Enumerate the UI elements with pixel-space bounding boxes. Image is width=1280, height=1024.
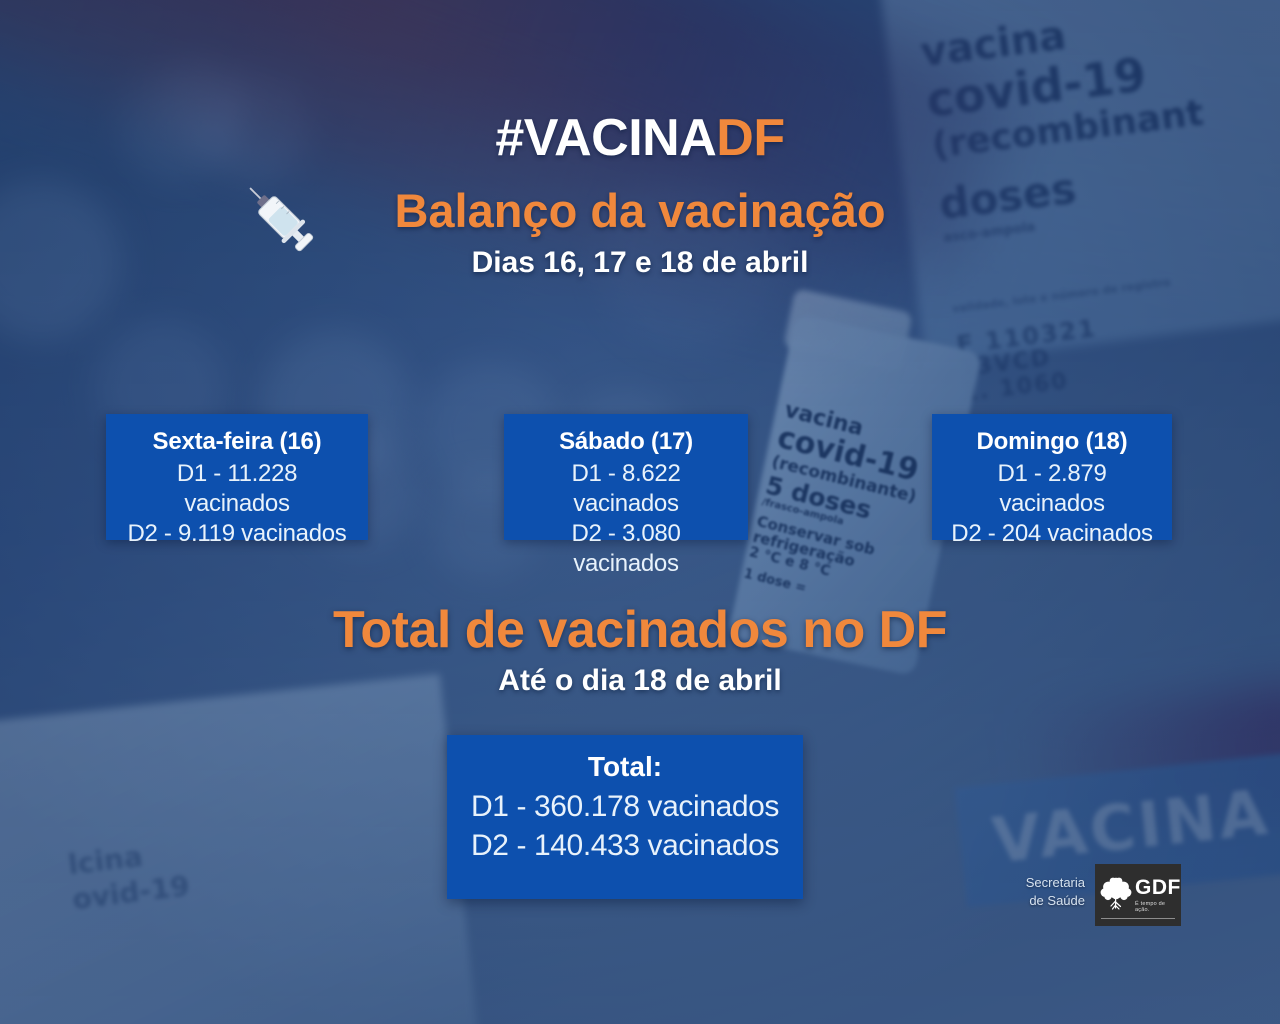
day-card-title: Sábado (17) <box>520 428 732 456</box>
tree-icon <box>1099 875 1133 915</box>
day-card-title: Sexta-feira (16) <box>122 428 352 456</box>
gdf-wordmark: GDF <box>1135 876 1181 899</box>
day-card-title: Domingo (18) <box>948 428 1156 456</box>
day-card-dose2: D2 - 3.080 vacinados <box>520 519 732 579</box>
page-dates: Dias 16, 17 e 18 de abril <box>0 246 1280 280</box>
day-card-friday: Sexta-feira (16) D1 - 11.228 vacinados D… <box>106 414 368 540</box>
secretaria-line2: de Saúde <box>985 892 1085 910</box>
page-title: #VACINADF <box>0 108 1280 168</box>
total-subheading: Até o dia 18 de abril <box>0 664 1280 698</box>
day-card-dose1: D1 - 2.879 vacinados <box>948 459 1156 519</box>
secretaria-line1: Secretaria <box>985 874 1085 892</box>
hashtag-vacina: #VACINA <box>495 109 716 167</box>
total-box: Total: D1 - 360.178 vacinados D2 - 140.4… <box>447 735 803 899</box>
day-card-dose1: D1 - 8.622 vacinados <box>520 459 732 519</box>
hashtag-df: DF <box>716 109 784 167</box>
day-card-dose2: D2 - 204 vacinados <box>948 519 1156 549</box>
gdf-logo-block: GDF É tempo de ação. <box>1095 864 1181 926</box>
total-box-title: Total: <box>459 751 791 783</box>
government-logo: Secretaria de Saúde GDF <box>985 868 1180 924</box>
gdf-tagline: É tempo de ação. <box>1135 901 1181 913</box>
day-card-saturday: Sábado (17) D1 - 8.622 vacinados D2 - 3.… <box>504 414 748 540</box>
total-dose1: D1 - 360.178 vacinados <box>459 787 791 826</box>
day-card-sunday: Domingo (18) D1 - 2.879 vacinados D2 - 2… <box>932 414 1172 540</box>
secretaria-saude-label: Secretaria de Saúde <box>985 874 1085 909</box>
day-cards-group: Sexta-feira (16) D1 - 11.228 vacinados D… <box>0 414 1280 542</box>
day-card-dose2: D2 - 9.119 vacinados <box>122 519 352 549</box>
page-subtitle: Balanço da vacinação <box>0 183 1280 238</box>
gdf-divider <box>1101 918 1175 919</box>
gdf-text-wrap: GDF É tempo de ação. <box>1135 877 1181 913</box>
total-heading: Total de vacinados no DF <box>0 600 1280 660</box>
total-dose2: D2 - 140.433 vacinados <box>459 826 791 865</box>
day-card-dose1: D1 - 11.228 vacinados <box>122 459 352 519</box>
